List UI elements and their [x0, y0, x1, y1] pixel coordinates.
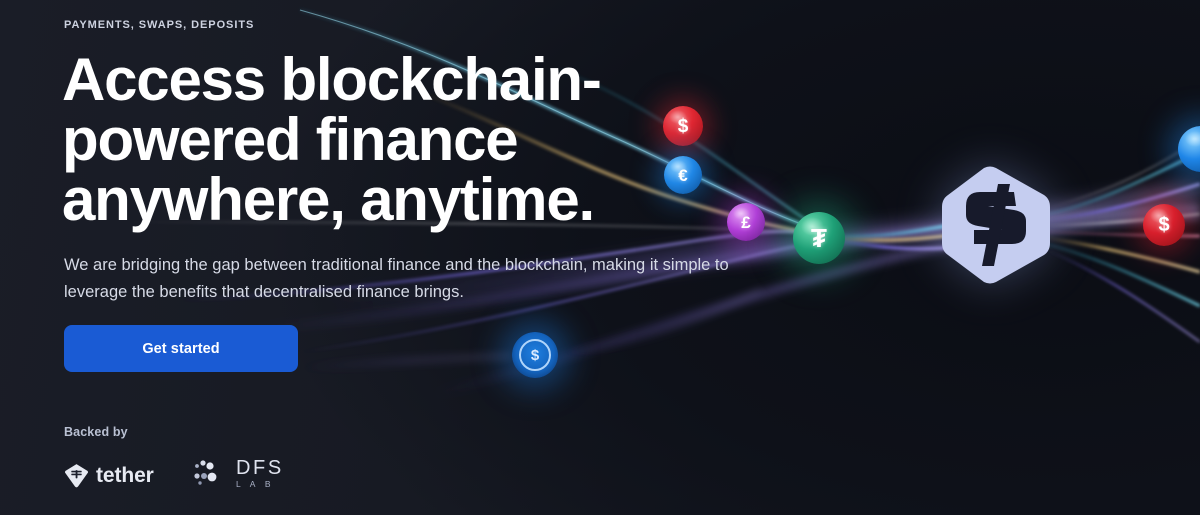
backed-by-label: Backed by	[64, 425, 128, 439]
get-started-button[interactable]: Get started	[64, 325, 298, 372]
page-title: Access blockchain-powered finance anywhe…	[62, 50, 662, 230]
tether-diamond-icon	[64, 463, 89, 488]
dfs-wordmark: DFS	[236, 458, 284, 478]
tether-wordmark: tether	[96, 465, 154, 486]
hero-content: PAYMENTS, SWAPS, DEPOSITS Access blockch…	[0, 0, 1200, 515]
dfs-dots-icon	[193, 458, 227, 488]
partner-logo-tether[interactable]: tether	[64, 462, 154, 488]
partner-logo-dfs-lab[interactable]: DFS L A B	[193, 456, 284, 490]
hero-subcopy: We are bridging the gap between traditio…	[64, 252, 794, 306]
hero-section: $ € £ ₮ $ $ PAYMENTS, SWAPS, DEPOSITS Ac…	[0, 0, 1200, 515]
dfs-lab-wordmark-group: DFS L A B	[236, 458, 284, 489]
lab-wordmark: L A B	[236, 479, 284, 489]
hero-eyebrow: PAYMENTS, SWAPS, DEPOSITS	[64, 19, 254, 31]
